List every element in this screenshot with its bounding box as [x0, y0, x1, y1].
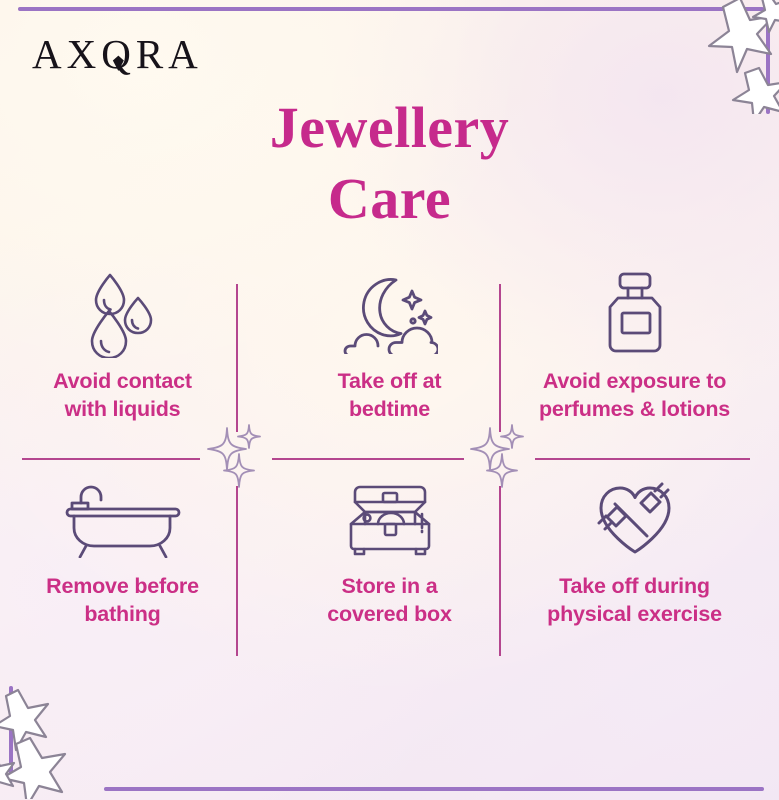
perfume-bottle-icon — [603, 268, 667, 360]
divider-horizontal-col3 — [535, 458, 750, 460]
bathtub-icon — [64, 473, 182, 565]
tip-card-avoid-perfume: Avoid exposure to perfumes & lotions — [512, 268, 757, 423]
tip-card-remove-bathing: Remove before bathing — [0, 473, 245, 628]
tip-caption: Remove before bathing — [46, 573, 199, 628]
crescent-moon-stars-icon — [342, 268, 438, 360]
tip-caption: Avoid exposure to perfumes & lotions — [539, 368, 730, 423]
page-title-line2: Care — [0, 163, 779, 234]
page-title: Jewellery Care — [0, 92, 779, 235]
tip-card-avoid-liquids: Avoid contact with liquids — [0, 268, 245, 423]
page-title-line1: Jewellery — [270, 95, 510, 160]
tip-caption: Take off at bedtime — [338, 368, 442, 423]
tips-grid: Avoid contact with liquids Take off at b… — [0, 268, 779, 688]
tip-caption: Avoid contact with liquids — [53, 368, 192, 423]
tip-caption: Store in a covered box — [327, 573, 451, 628]
brand-logo: AXQRA — [32, 34, 203, 75]
tip-card-bedtime: Take off at bedtime — [267, 268, 512, 423]
tip-card-exercise: Take off during physical exercise — [512, 473, 757, 628]
divider-horizontal-col1 — [22, 458, 200, 460]
frame-line-top — [18, 7, 764, 11]
brand-logo-q: Q — [101, 34, 136, 75]
frame-line-bottom — [104, 787, 764, 791]
jewellery-box-icon — [342, 473, 438, 565]
brand-logo-text-b: RA — [136, 34, 203, 75]
heart-dumbbell-icon — [585, 473, 685, 565]
jewellery-care-poster: AXQRA Jewellery Care — [0, 0, 779, 800]
tip-caption: Take off during physical exercise — [547, 573, 722, 628]
five-point-stars-icon — [0, 684, 94, 800]
tip-card-covered-box: Store in a covered box — [267, 473, 512, 628]
water-droplets-icon — [85, 268, 161, 360]
divider-horizontal-col2 — [272, 458, 464, 460]
diamond-gem-icon — [111, 37, 124, 78]
brand-logo-text-a: AX — [32, 34, 101, 75]
